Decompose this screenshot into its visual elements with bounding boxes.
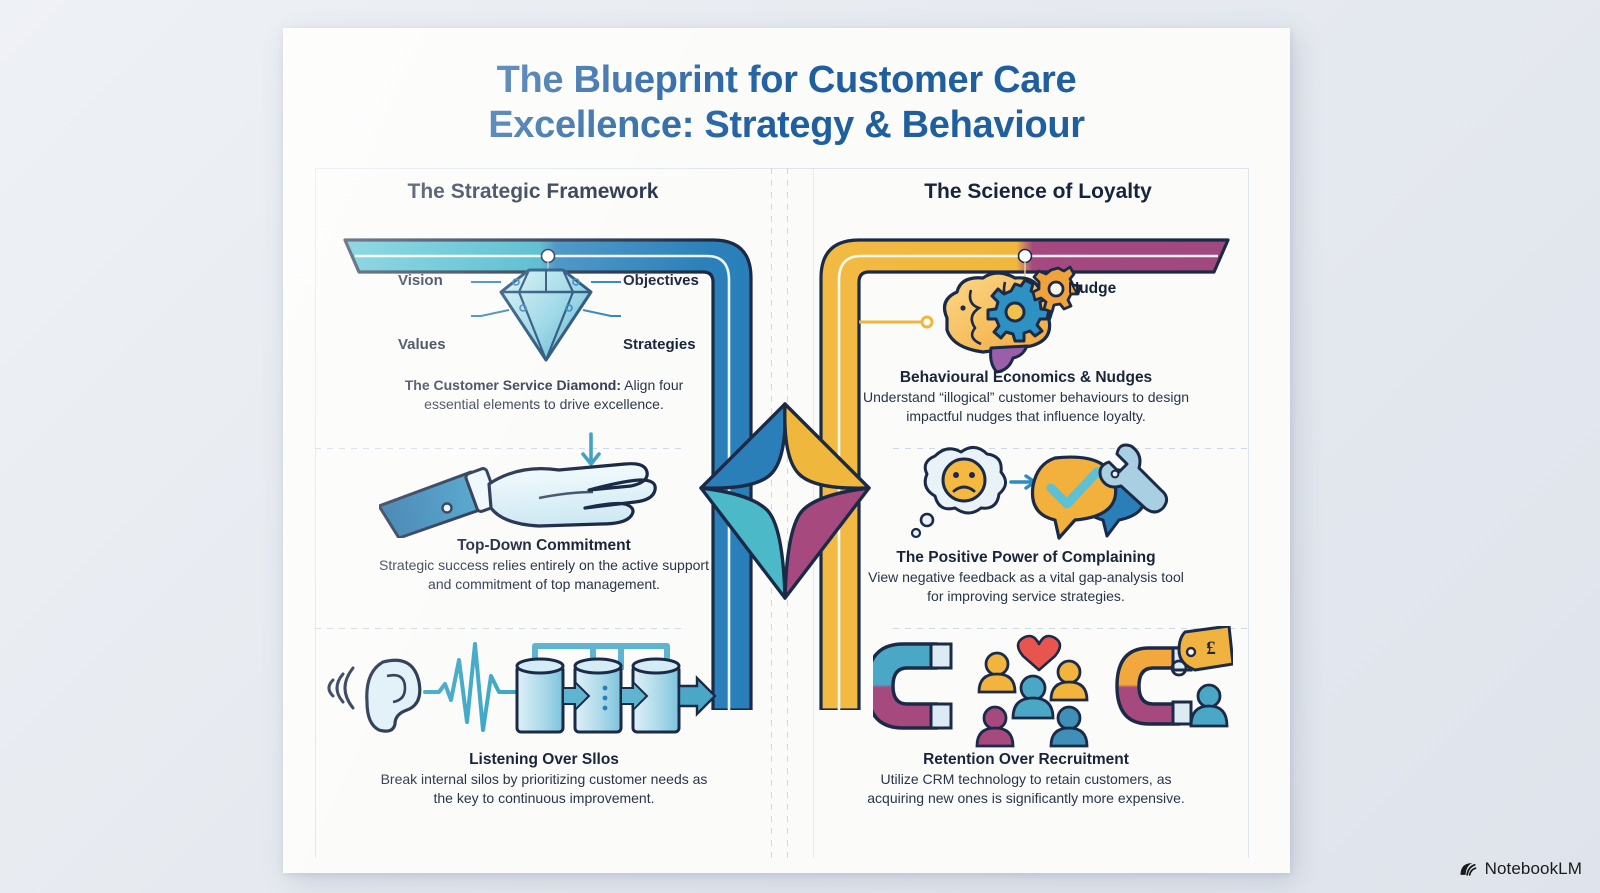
center-emblem-icon <box>683 386 888 616</box>
notebooklm-logo-icon <box>1458 859 1478 879</box>
block-title-nudge: Behavioural Economics & Nudges <box>861 368 1191 387</box>
guide-line <box>1248 168 1249 858</box>
content-block-retention: Retention Over Recruitment Utilize CRM t… <box>861 750 1191 808</box>
guide-line <box>315 168 316 858</box>
block-desc-complaining: View negative feedback as a vital gap-an… <box>861 568 1191 605</box>
infographic-card: The Blueprint for Customer Care Excellen… <box>283 28 1290 873</box>
title-line-1: The Blueprint for Customer Care <box>497 59 1077 101</box>
content-block-nudge: Behavioural Economics & Nudges Understan… <box>861 368 1191 426</box>
column-heading-right: The Science of Loyalty <box>828 180 1248 204</box>
nudge-callout-label: Nudge <box>1068 280 1116 298</box>
block-desc-top-down: Strategic success relies entirely on the… <box>379 556 709 593</box>
page-title: The Blueprint for Customer Care Excellen… <box>283 58 1290 148</box>
brain-gears-icon <box>913 260 1103 378</box>
block-desc-nudge: Understand “illogical” customer behaviou… <box>861 388 1191 425</box>
block-title-complaining: The Positive Power of Complaining <box>861 548 1191 567</box>
column-heading-left: The Strategic Framework <box>323 180 743 204</box>
content-block-diamond: The Customer Service Diamond: Align four… <box>379 375 709 413</box>
block-title-diamond: The Customer Service Diamond: <box>405 377 621 393</box>
diamond-label-vision: Vision <box>398 272 443 289</box>
diamond-label-objectives: Objectives <box>623 272 699 289</box>
content-block-complaining: The Positive Power of Complaining View n… <box>861 548 1191 606</box>
diamond-gem-icon <box>471 260 621 370</box>
svg-text:£: £ <box>1206 638 1216 659</box>
diamond-label-values: Values <box>398 336 446 353</box>
block-title-retention: Retention Over Recruitment <box>861 750 1191 769</box>
block-desc-retention: Utilize CRM technology to retain custome… <box>861 770 1191 807</box>
diamond-label-strategies: Strategies <box>623 336 696 353</box>
open-hand-icon <box>379 428 709 538</box>
content-block-listening: Listening Over Sllos Break internal silo… <box>379 750 709 808</box>
block-title-listening: Listening Over Sllos <box>379 750 709 769</box>
content-block-top-down: Top-Down Commitment Strategic success re… <box>379 536 709 594</box>
title-line-2: Excellence: Strategy & Behaviour <box>283 103 1290 148</box>
guide-line <box>315 168 1248 169</box>
notebooklm-watermark: NotebookLM <box>1458 859 1582 879</box>
magnet-retention-icon: £ <box>873 626 1233 748</box>
block-desc-listening: Break internal silos by prioritizing cus… <box>379 770 709 807</box>
block-title-suffix: Align <box>621 377 655 393</box>
notebooklm-label: NotebookLM <box>1485 859 1582 879</box>
complaint-feedback-icon <box>883 436 1173 546</box>
block-title-top-down: Top-Down Commitment <box>379 536 709 555</box>
ear-silos-icon <box>321 626 721 746</box>
